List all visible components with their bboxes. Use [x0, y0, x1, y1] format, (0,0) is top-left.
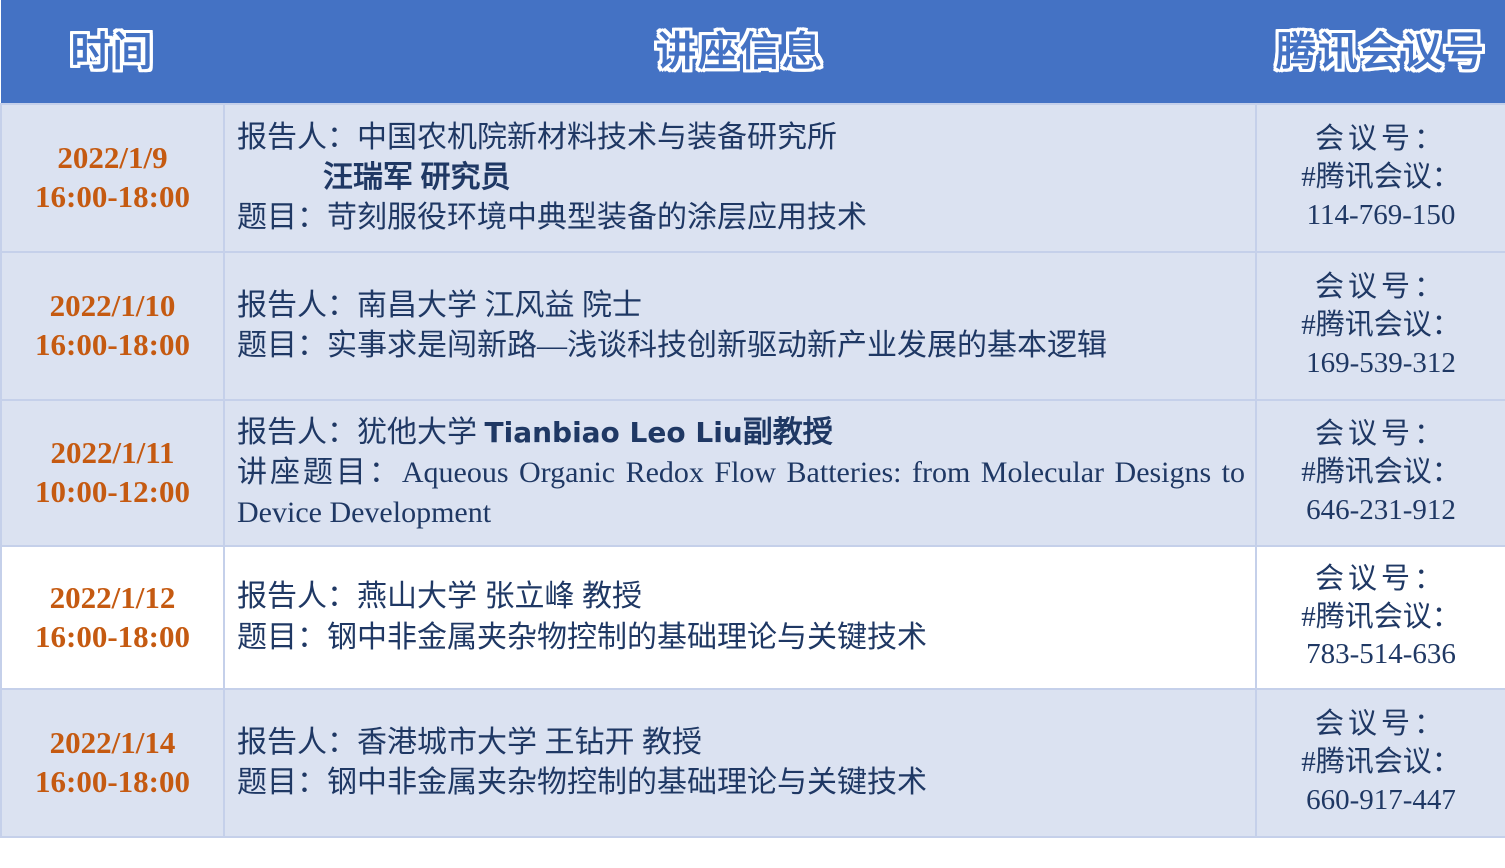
topic-text: 钢中非金属夹杂物控制的基础理论与关键技术	[327, 621, 927, 654]
topic-text: 钢中非金属夹杂物控制的基础理论与关键技术	[327, 766, 927, 799]
topic-label: 题目：	[237, 621, 327, 654]
cell-lecture-info: 报告人：南昌大学 江风益 院士 题目：实事求是闯新路—浅谈科技创新驱动新产业发展…	[224, 252, 1256, 400]
row-date: 2022/1/14	[4, 724, 221, 763]
table-row: 2022/1/14 16:00-18:00 报告人：香港城市大学 王钻开 教授 …	[1, 689, 1505, 837]
topic-line: 题目：苛刻服役环境中典型装备的涂层应用技术	[237, 198, 1245, 238]
header-label-time: 时间	[1, 32, 224, 72]
topic-label: 题目：	[237, 329, 327, 362]
row-time-range: 16:00-18:00	[4, 763, 221, 802]
cell-meeting-number: 会议号： #腾讯会议： 114-769-150	[1256, 104, 1505, 252]
lecture-schedule-table: 时间 讲座信息 腾讯会议号 2022/1/9 16:00-18:00 报告人：中…	[0, 0, 1505, 838]
row-time-range: 16:00-18:00	[4, 618, 221, 657]
speaker-line: 报告人：中国农机院新材料技术与装备研究所	[237, 118, 1245, 158]
meeting-number: 783-514-636	[1261, 636, 1501, 674]
lecture-info-block: 报告人：中国农机院新材料技术与装备研究所 汪瑞军 研究员 题目：苛刻服役环境中典…	[237, 118, 1245, 239]
table-header: 时间 讲座信息 腾讯会议号	[1, 0, 1505, 104]
speaker-line: 报告人：香港城市大学 王钻开 教授	[237, 723, 1245, 763]
meeting-app: #腾讯会议：	[1261, 159, 1501, 197]
cell-time: 2022/1/14 16:00-18:00	[1, 689, 224, 837]
header-cell-time: 时间	[1, 0, 224, 104]
row-date: 2022/1/10	[4, 287, 221, 326]
row-time-range: 16:00-18:00	[4, 326, 221, 365]
table-row: 2022/1/11 10:00-12:00 报告人：犹他大学 Tianbiao …	[1, 400, 1505, 546]
cell-time: 2022/1/9 16:00-18:00	[1, 104, 224, 252]
meeting-block: 会议号： #腾讯会议： 783-514-636	[1261, 561, 1501, 674]
meeting-label: 会议号：	[1261, 561, 1501, 599]
lecture-info-block: 报告人：南昌大学 江风益 院士 题目：实事求是闯新路—浅谈科技创新驱动新产业发展…	[237, 286, 1245, 366]
topic-line: 题目：实事求是闯新路—浅谈科技创新驱动新产业发展的基本逻辑	[237, 326, 1245, 366]
meeting-label: 会议号：	[1261, 269, 1501, 307]
header-cell-meeting: 腾讯会议号	[1256, 0, 1505, 104]
speaker-line: 报告人：犹他大学 Tianbiao Leo Liu副教授	[237, 413, 1245, 453]
header-cell-info: 讲座信息	[224, 0, 1256, 104]
meeting-app: #腾讯会议：	[1261, 744, 1501, 782]
speaker-affiliation: 南昌大学 江风益 院士	[357, 289, 642, 322]
header-row: 时间 讲座信息 腾讯会议号	[1, 0, 1505, 104]
lecture-info-block: 报告人：香港城市大学 王钻开 教授 题目：钢中非金属夹杂物控制的基础理论与关键技…	[237, 723, 1245, 803]
meeting-number: 114-769-150	[1261, 197, 1501, 235]
cell-meeting-number: 会议号： #腾讯会议： 169-539-312	[1256, 252, 1505, 400]
lecture-info-block: 报告人：犹他大学 Tianbiao Leo Liu副教授 讲座题目：Aqueou…	[237, 413, 1245, 534]
topic-line: 题目：钢中非金属夹杂物控制的基础理论与关键技术	[237, 763, 1245, 803]
table-row: 2022/1/12 16:00-18:00 报告人：燕山大学 张立峰 教授 题目…	[1, 546, 1505, 689]
table-row: 2022/1/9 16:00-18:00 报告人：中国农机院新材料技术与装备研究…	[1, 104, 1505, 252]
cell-time: 2022/1/12 16:00-18:00	[1, 546, 224, 689]
cell-meeting-number: 会议号： #腾讯会议： 660-917-447	[1256, 689, 1505, 837]
meeting-block: 会议号： #腾讯会议： 646-231-912	[1261, 416, 1501, 529]
meeting-app: #腾讯会议：	[1261, 454, 1501, 492]
topic-label: 讲座题目：	[237, 456, 402, 489]
cell-lecture-info: 报告人：燕山大学 张立峰 教授 题目：钢中非金属夹杂物控制的基础理论与关键技术	[224, 546, 1256, 689]
row-date: 2022/1/12	[4, 579, 221, 618]
cell-lecture-info: 报告人：犹他大学 Tianbiao Leo Liu副教授 讲座题目：Aqueou…	[224, 400, 1256, 546]
row-time-range: 10:00-12:00	[4, 473, 221, 512]
meeting-app: #腾讯会议：	[1261, 307, 1501, 345]
speaker-label: 报告人：	[237, 121, 357, 154]
speaker-label: 报告人：	[237, 580, 357, 613]
topic-label: 题目：	[237, 201, 327, 234]
table-row: 2022/1/10 16:00-18:00 报告人：南昌大学 江风益 院士 题目…	[1, 252, 1505, 400]
table-body: 2022/1/9 16:00-18:00 报告人：中国农机院新材料技术与装备研究…	[1, 104, 1505, 837]
speaker-line: 报告人：南昌大学 江风益 院士	[237, 286, 1245, 326]
meeting-app: #腾讯会议：	[1261, 599, 1501, 637]
meeting-label: 会议号：	[1261, 121, 1501, 159]
row-date: 2022/1/11	[4, 434, 221, 473]
topic-line: 题目：钢中非金属夹杂物控制的基础理论与关键技术	[237, 618, 1245, 658]
speaker-label: 报告人：	[237, 726, 357, 759]
cell-meeting-number: 会议号： #腾讯会议： 783-514-636	[1256, 546, 1505, 689]
meeting-block: 会议号： #腾讯会议： 660-917-447	[1261, 706, 1501, 819]
meeting-block: 会议号： #腾讯会议： 169-539-312	[1261, 269, 1501, 382]
speaker-label: 报告人：	[237, 289, 357, 322]
cell-lecture-info: 报告人：中国农机院新材料技术与装备研究所 汪瑞军 研究员 题目：苛刻服役环境中典…	[224, 104, 1256, 252]
cell-time: 2022/1/10 16:00-18:00	[1, 252, 224, 400]
meeting-number: 660-917-447	[1261, 782, 1501, 820]
cell-time: 2022/1/11 10:00-12:00	[1, 400, 224, 546]
speaker-affiliation: 燕山大学 张立峰 教授	[357, 580, 642, 613]
meeting-label: 会议号：	[1261, 416, 1501, 454]
row-date: 2022/1/9	[4, 139, 221, 178]
header-label-meeting: 腾讯会议号	[1256, 32, 1505, 72]
lecture-info-block: 报告人：燕山大学 张立峰 教授 题目：钢中非金属夹杂物控制的基础理论与关键技术	[237, 577, 1245, 657]
meeting-label: 会议号：	[1261, 706, 1501, 744]
topic-text: 实事求是闯新路—浅谈科技创新驱动新产业发展的基本逻辑	[327, 329, 1107, 362]
row-time-range: 16:00-18:00	[4, 178, 221, 217]
meeting-block: 会议号： #腾讯会议： 114-769-150	[1261, 121, 1501, 234]
meeting-number: 646-231-912	[1261, 492, 1501, 530]
cell-meeting-number: 会议号： #腾讯会议： 646-231-912	[1256, 400, 1505, 546]
topic-line: 讲座题目：Aqueous Organic Redox Flow Batterie…	[237, 453, 1245, 533]
header-label-info: 讲座信息	[224, 32, 1256, 72]
speaker-label: 报告人：	[237, 416, 357, 449]
speaker-affiliation: 香港城市大学 王钻开 教授	[357, 726, 702, 759]
topic-label: 题目：	[237, 766, 327, 799]
cell-lecture-info: 报告人：香港城市大学 王钻开 教授 题目：钢中非金属夹杂物控制的基础理论与关键技…	[224, 689, 1256, 837]
topic-text: 苛刻服役环境中典型装备的涂层应用技术	[327, 201, 867, 234]
speaker-title: 副教授	[743, 416, 833, 449]
speaker-affiliation: 犹他大学	[357, 416, 485, 449]
speaker-affiliation: 中国农机院新材料技术与装备研究所	[357, 121, 837, 154]
speaker-name-line: 汪瑞军 研究员	[237, 158, 1245, 198]
meeting-number: 169-539-312	[1261, 345, 1501, 383]
speaker-line: 报告人：燕山大学 张立峰 教授	[237, 577, 1245, 617]
speaker-name-en: Tianbiao Leo Liu	[485, 416, 743, 449]
